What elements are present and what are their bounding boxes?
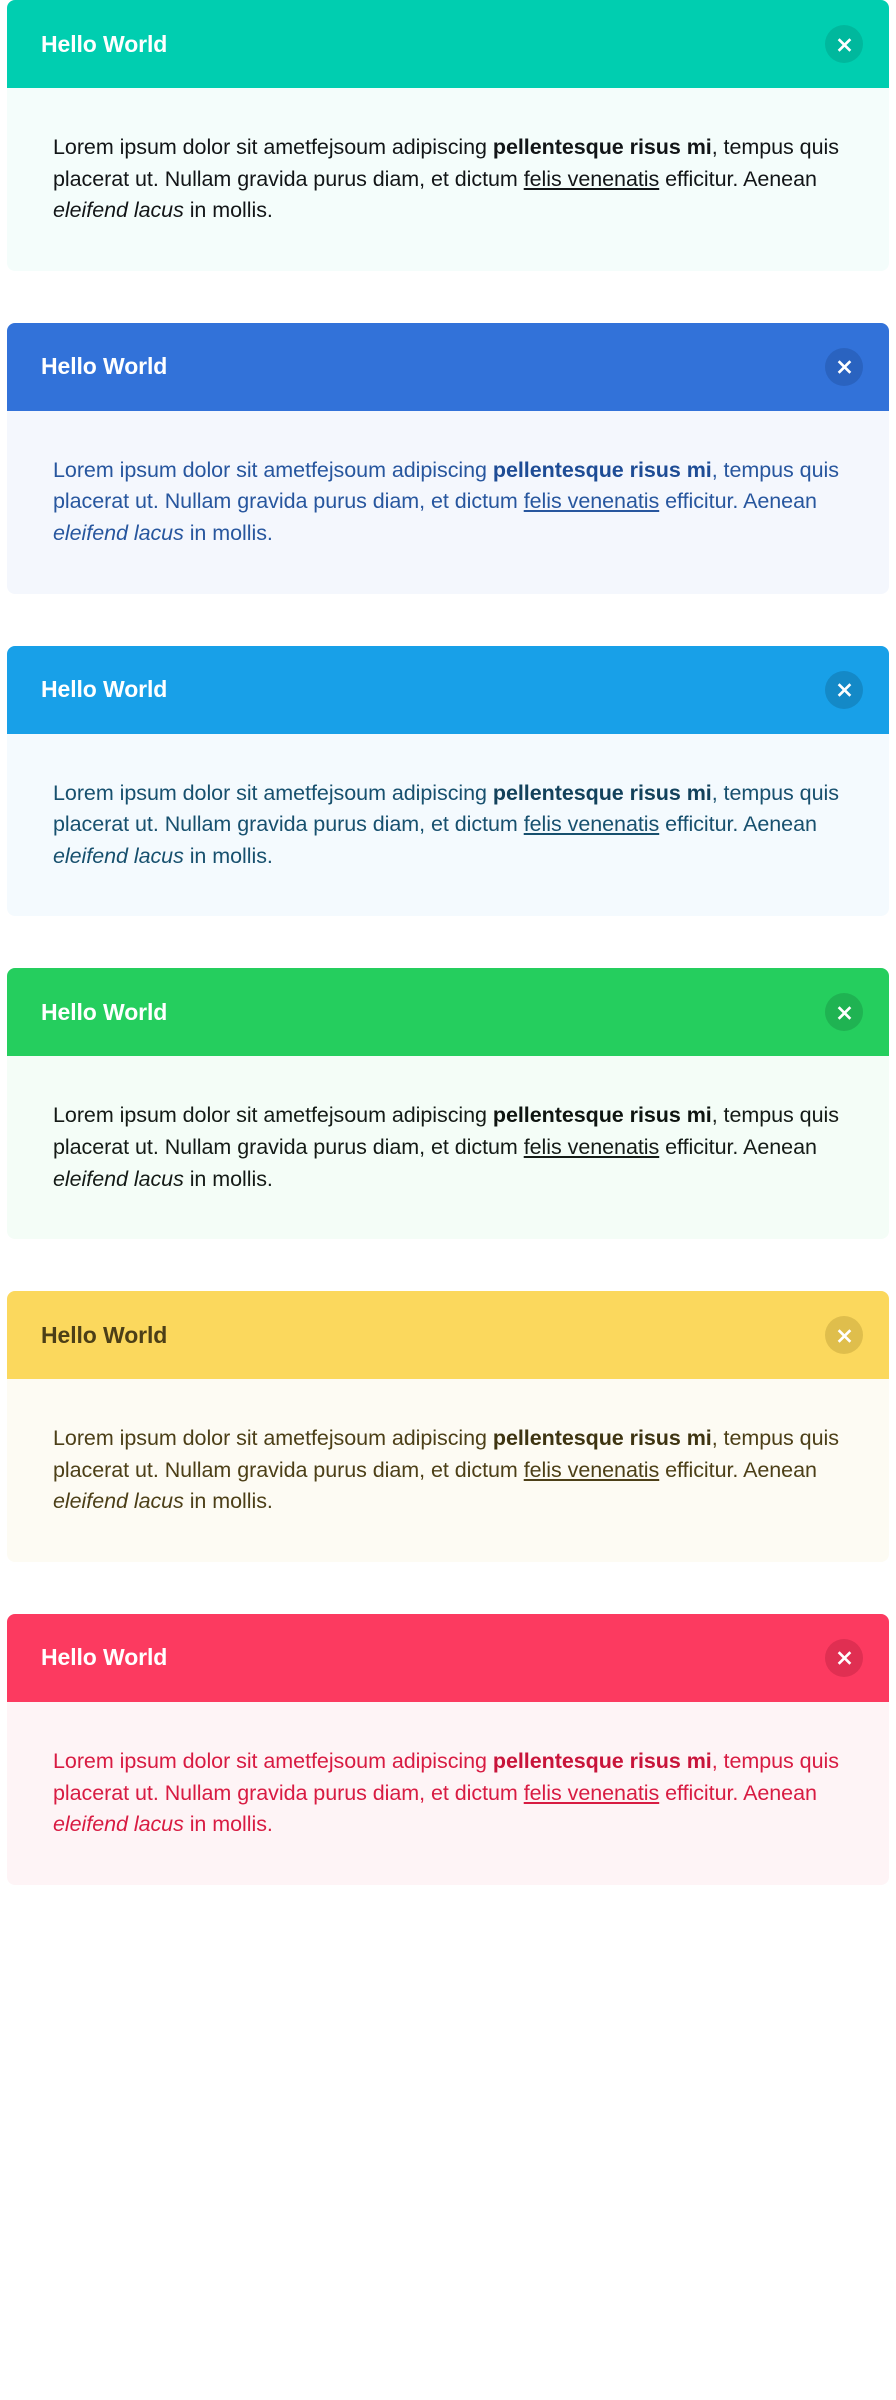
text-italic: eleifend lacus xyxy=(53,1489,184,1513)
text-italic: eleifend lacus xyxy=(53,1812,184,1836)
card-body-primary: Lorem ipsum dolor sit ametfejsoum adipis… xyxy=(7,411,889,594)
text-part-3: efficitur. Aenean xyxy=(659,167,817,191)
text-part-4: in mollis. xyxy=(184,844,273,868)
alert-card-primary: Hello World Lorem ipsum dolor sit ametfe… xyxy=(7,323,889,594)
text-part-4: in mollis. xyxy=(184,1489,273,1513)
text-bold: pellentesque risus mi xyxy=(493,1426,712,1450)
card-title-info: Hello World xyxy=(41,678,167,701)
text-part-1: Lorem ipsum dolor sit ametfejsoum adipis… xyxy=(53,135,493,159)
text-bold: pellentesque risus mi xyxy=(493,135,712,159)
text-part-1: Lorem ipsum dolor sit ametfejsoum adipis… xyxy=(53,1103,493,1127)
text-part-4: in mollis. xyxy=(184,1167,273,1191)
card-title-teal: Hello World xyxy=(41,33,167,56)
card-spacer xyxy=(0,916,896,968)
card-text: Lorem ipsum dolor sit ametfejsoum adipis… xyxy=(53,1100,843,1195)
card-body-teal: Lorem ipsum dolor sit ametfejsoum adipis… xyxy=(7,88,889,271)
text-bold: pellentesque risus mi xyxy=(493,781,712,805)
close-icon[interactable] xyxy=(825,1639,863,1677)
card-spacer xyxy=(0,1562,896,1614)
card-title-danger: Hello World xyxy=(41,1646,167,1669)
text-part-3: efficitur. Aenean xyxy=(659,812,817,836)
text-part-4: in mollis. xyxy=(184,198,273,222)
text-bold: pellentesque risus mi xyxy=(493,1749,712,1773)
alert-card-success: Hello World Lorem ipsum dolor sit ametfe… xyxy=(7,968,889,1239)
text-italic: eleifend lacus xyxy=(53,844,184,868)
card-spacer xyxy=(0,1239,896,1291)
text-part-3: efficitur. Aenean xyxy=(659,1458,817,1482)
card-header-info: Hello World xyxy=(7,646,889,734)
felis-venenatis-link[interactable]: felis venenatis xyxy=(524,1458,660,1482)
text-italic: eleifend lacus xyxy=(53,198,184,222)
text-part-1: Lorem ipsum dolor sit ametfejsoum adipis… xyxy=(53,458,493,482)
alert-card-danger: Hello World Lorem ipsum dolor sit ametfe… xyxy=(7,1614,889,1885)
card-title-warning: Hello World xyxy=(41,1324,167,1347)
text-part-1: Lorem ipsum dolor sit ametfejsoum adipis… xyxy=(53,1749,493,1773)
text-bold: pellentesque risus mi xyxy=(493,1103,712,1127)
text-italic: eleifend lacus xyxy=(53,1167,184,1191)
felis-venenatis-link[interactable]: felis venenatis xyxy=(524,812,660,836)
card-text: Lorem ipsum dolor sit ametfejsoum adipis… xyxy=(53,778,843,873)
card-header-warning: Hello World xyxy=(7,1291,889,1379)
text-part-3: efficitur. Aenean xyxy=(659,1781,817,1805)
close-icon[interactable] xyxy=(825,348,863,386)
alert-card-list: Hello World Lorem ipsum dolor sit ametfe… xyxy=(0,0,896,2400)
card-text: Lorem ipsum dolor sit ametfejsoum adipis… xyxy=(53,1423,843,1518)
close-icon[interactable] xyxy=(825,993,863,1031)
alert-card-info: Hello World Lorem ipsum dolor sit ametfe… xyxy=(7,646,889,917)
card-text: Lorem ipsum dolor sit ametfejsoum adipis… xyxy=(53,455,843,550)
card-body-danger: Lorem ipsum dolor sit ametfejsoum adipis… xyxy=(7,1702,889,1885)
close-icon[interactable] xyxy=(825,1316,863,1354)
close-icon[interactable] xyxy=(825,671,863,709)
text-part-3: efficitur. Aenean xyxy=(659,489,817,513)
card-header-danger: Hello World xyxy=(7,1614,889,1702)
close-icon[interactable] xyxy=(825,25,863,63)
card-title-primary: Hello World xyxy=(41,355,167,378)
text-part-1: Lorem ipsum dolor sit ametfejsoum adipis… xyxy=(53,781,493,805)
card-header-success: Hello World xyxy=(7,968,889,1056)
card-body-warning: Lorem ipsum dolor sit ametfejsoum adipis… xyxy=(7,1379,889,1562)
text-italic: eleifend lacus xyxy=(53,521,184,545)
text-part-3: efficitur. Aenean xyxy=(659,1135,817,1159)
text-bold: pellentesque risus mi xyxy=(493,458,712,482)
card-header-primary: Hello World xyxy=(7,323,889,411)
card-text: Lorem ipsum dolor sit ametfejsoum adipis… xyxy=(53,1746,843,1841)
card-spacer xyxy=(0,594,896,646)
card-header-teal: Hello World xyxy=(7,0,889,88)
felis-venenatis-link[interactable]: felis venenatis xyxy=(524,1135,660,1159)
text-part-4: in mollis. xyxy=(184,1812,273,1836)
card-spacer xyxy=(0,271,896,323)
text-part-4: in mollis. xyxy=(184,521,273,545)
text-part-1: Lorem ipsum dolor sit ametfejsoum adipis… xyxy=(53,1426,493,1450)
felis-venenatis-link[interactable]: felis venenatis xyxy=(524,1781,660,1805)
card-title-success: Hello World xyxy=(41,1001,167,1024)
card-text: Lorem ipsum dolor sit ametfejsoum adipis… xyxy=(53,132,843,227)
felis-venenatis-link[interactable]: felis venenatis xyxy=(524,489,660,513)
felis-venenatis-link[interactable]: felis venenatis xyxy=(524,167,660,191)
alert-card-teal: Hello World Lorem ipsum dolor sit ametfe… xyxy=(7,0,889,271)
alert-card-warning: Hello World Lorem ipsum dolor sit ametfe… xyxy=(7,1291,889,1562)
card-body-success: Lorem ipsum dolor sit ametfejsoum adipis… xyxy=(7,1056,889,1239)
card-body-info: Lorem ipsum dolor sit ametfejsoum adipis… xyxy=(7,734,889,917)
